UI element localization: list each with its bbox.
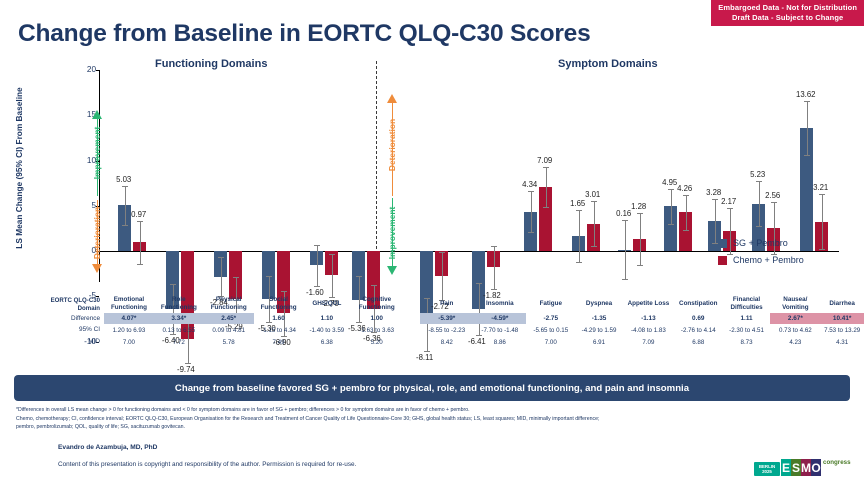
logo-letter-m: M xyxy=(801,459,811,476)
logo-esmo-letters: E S M O xyxy=(781,459,821,476)
arrow-label-deterioration-functioning: Deterioration xyxy=(92,188,102,278)
error-bar-cap xyxy=(771,202,777,203)
table-cell-ci: -2.76 to 4.14 xyxy=(674,324,723,336)
table-cell-ci: -2.30 to 4.51 xyxy=(723,324,771,336)
embargo-line-2: Draft Data - Subject to Change xyxy=(718,13,857,23)
table-cell-ci: 0.09 to 4.81 xyxy=(204,324,254,336)
error-bar xyxy=(671,189,672,224)
error-bar xyxy=(807,101,808,155)
bar-value-label: 5.03 xyxy=(116,175,131,184)
row-label-domain: EORTC QLQ-C30 Domain xyxy=(0,296,104,313)
error-bar-cap xyxy=(819,249,825,250)
error-bar-cap xyxy=(266,276,272,277)
error-bar-cap xyxy=(439,252,445,253)
error-bar-cap xyxy=(819,194,825,195)
error-bar-cap xyxy=(218,257,224,258)
copyright-text: Content of this presentation is copyrigh… xyxy=(58,461,356,468)
error-bar xyxy=(221,257,222,296)
logo-berlin-year: 2025 xyxy=(756,469,778,474)
error-bar-cap xyxy=(576,210,582,211)
arrow-label-deterioration-symptom: Deterioration xyxy=(387,100,397,190)
table-column-header: RoleFunctioning xyxy=(154,296,204,313)
table-cell-ci: -5.65 to 0.15 xyxy=(526,324,575,336)
bar-value-label: -8.11 xyxy=(416,353,433,362)
table-cell-difference: -1.13 xyxy=(623,313,674,324)
legend-label: SG + Pembro xyxy=(733,238,788,248)
table-column-header-line1: Physical xyxy=(204,296,254,304)
bar-value-label: 1.28 xyxy=(631,202,646,211)
bar-value-label: 3.01 xyxy=(585,190,600,199)
logo-letter-s: S xyxy=(791,459,801,476)
table-cell-ci: 0.13 to 6.55 xyxy=(154,324,204,336)
error-bar-cap xyxy=(329,254,335,255)
table-column-header-line1: Diarrhea xyxy=(820,300,864,308)
y-axis-label: LS Mean Change (95% CI) From Baseline xyxy=(14,63,24,273)
error-bar xyxy=(594,201,595,246)
table-column-header-line2: Functioning xyxy=(350,304,403,312)
chart-legend: SG + PembroChemo + Pembro xyxy=(718,238,804,272)
y-axis-tick-mark xyxy=(96,70,99,71)
error-bar-cap xyxy=(712,243,718,244)
table-column-header: Nausea/Vomiting xyxy=(770,296,820,313)
error-bar-cap xyxy=(756,226,762,227)
table-cell-mid: 7.09 xyxy=(623,336,674,348)
bar-value-label: 7.09 xyxy=(537,156,552,165)
table-column-header-line1: Fatigue xyxy=(526,300,575,308)
error-bar-cap xyxy=(591,246,597,247)
bar-value-label: 4.26 xyxy=(677,184,692,193)
table-cell-difference: 1.10 xyxy=(304,313,351,324)
bar-value-label: 0.97 xyxy=(131,210,146,219)
error-bar-cap xyxy=(756,181,762,182)
error-bar-cap xyxy=(683,230,689,231)
legend-swatch xyxy=(718,239,727,248)
table-column-header-line1: GHS/QOL xyxy=(304,300,351,308)
bar-value-label: 2.56 xyxy=(765,191,780,200)
table-cell-difference: 10.41* xyxy=(820,313,864,324)
error-bar-cap xyxy=(683,195,689,196)
error-bar-cap xyxy=(371,285,377,286)
error-bar-cap xyxy=(185,363,191,364)
table-column-header: Insomnia xyxy=(473,296,526,313)
footnote-line: pembro, pembrolizumab; QOL, quality of l… xyxy=(16,423,852,431)
table-panel-gap xyxy=(403,324,420,336)
error-bar xyxy=(531,191,532,232)
table-column-header-line1: Appetite Loss xyxy=(623,300,674,308)
table-cell-difference: -5.39* xyxy=(420,313,473,324)
table-cell-ci: -1.40 to 3.59 xyxy=(304,324,351,336)
row-label-domain-line1: EORTC QLQ-C30 xyxy=(0,297,100,304)
author-name: Evandro de Azambuja, MD, PhD xyxy=(58,444,157,451)
table-cell-mid: 7.49 xyxy=(254,336,304,348)
table-cell-difference: 0.69 xyxy=(674,313,723,324)
table-cell-ci: -1.15 to 4.34 xyxy=(254,324,304,336)
error-bar-cap xyxy=(170,284,176,285)
table-cell-difference: -2.75 xyxy=(526,313,575,324)
table-column-header-line1: Financial xyxy=(723,296,771,304)
section-header-symptom: Symptom Domains xyxy=(558,58,658,70)
error-bar xyxy=(125,186,126,225)
error-bar-cap xyxy=(591,201,597,202)
embargo-banner: Embargoed Data - Not for Distribution Dr… xyxy=(711,0,864,26)
table-row-difference: Difference 4.07*3.34*2.45*1.601.101.00-5… xyxy=(0,313,864,324)
error-bar xyxy=(546,167,547,207)
table-cell-ci: 1.20 to 6.93 xyxy=(104,324,154,336)
table-column-header: Constipation xyxy=(674,296,723,313)
error-bar xyxy=(715,199,716,242)
table-column-header-line1: Role xyxy=(154,296,204,304)
error-bar-cap xyxy=(491,289,497,290)
error-bar xyxy=(332,254,333,297)
footnotes: *Differences in overall LS mean change >… xyxy=(16,406,852,432)
error-bar-cap xyxy=(314,245,320,246)
data-table-wrap: EORTC QLQ-C30 Domain EmotionalFunctionin… xyxy=(0,296,864,348)
table-column-header: Dyspnea xyxy=(575,296,623,313)
table-column-header-line2: Functioning xyxy=(154,304,204,312)
table-cell-ci: 7.53 to 13.29 xyxy=(820,324,864,336)
table-row-domain: EORTC QLQ-C30 Domain EmotionalFunctionin… xyxy=(0,296,864,313)
error-bar-cap xyxy=(668,189,674,190)
table-cell-mid: 7.00 xyxy=(104,336,154,348)
error-bar-cap xyxy=(622,220,628,221)
table-column-header-line2: Functioning xyxy=(254,304,304,312)
error-bar-cap xyxy=(804,155,810,156)
bar-value-label: -9.74 xyxy=(177,365,195,374)
error-bar-cap xyxy=(122,186,128,187)
error-bar-cap xyxy=(804,101,810,102)
table-cell-difference: 1.11 xyxy=(723,313,771,324)
table-column-header-line2: Difficulties xyxy=(723,304,771,312)
error-bar-cap xyxy=(424,351,430,352)
table-cell-mid: 5.78 xyxy=(204,336,254,348)
table-cell-difference: 1.60 xyxy=(254,313,304,324)
error-bar-cap xyxy=(356,276,362,277)
table-column-header-line1: Pain xyxy=(420,300,473,308)
table-column-header-line1: Nausea/ xyxy=(770,296,820,304)
legend-label: Chemo + Pembro xyxy=(733,255,804,265)
table-cell-mid: 6.91 xyxy=(575,336,623,348)
bar-value-label: 0.16 xyxy=(616,209,631,218)
table-column-header-line2: Functioning xyxy=(104,304,154,312)
conclusion-banner: Change from baseline favored SG + pembro… xyxy=(14,375,850,401)
logo-congress-text: congress xyxy=(823,459,851,466)
section-header-functioning: Functioning Domains xyxy=(155,58,267,70)
error-bar-cap xyxy=(637,265,643,266)
table-cell-mid: 6.38 xyxy=(304,336,351,348)
table-cell-difference: 1.00 xyxy=(350,313,403,324)
error-bar-cap xyxy=(528,232,534,233)
embargo-line-1: Embargoed Data - Not for Distribution xyxy=(718,3,857,13)
table-cell-difference: 2.45* xyxy=(204,313,254,324)
error-bar-cap xyxy=(712,199,718,200)
table-cell-ci: -7.70 to -1.48 xyxy=(473,324,526,336)
error-bar-cap xyxy=(476,283,482,284)
table-cell-difference: 4.07* xyxy=(104,313,154,324)
bar-value-label: 2.17 xyxy=(721,197,736,206)
error-bar-cap xyxy=(637,213,643,214)
row-label-ci: 95% CI xyxy=(0,324,104,336)
table-cell-ci: -4.08 to 1.83 xyxy=(623,324,674,336)
legend-swatch xyxy=(718,256,727,265)
table-column-header-line2: Functioning xyxy=(204,304,254,312)
y-axis-tick-label: 20 xyxy=(72,65,96,74)
table-row-ci: 95% CI 1.20 to 6.930.13 to 6.550.09 to 4… xyxy=(0,324,864,336)
table-column-header-line1: Dyspnea xyxy=(575,300,623,308)
bar-value-label: 4.34 xyxy=(522,180,537,189)
table-column-header: PhysicalFunctioning xyxy=(204,296,254,313)
table-cell-difference: 2.67* xyxy=(770,313,820,324)
error-bar xyxy=(625,220,626,279)
error-bar-cap xyxy=(622,279,628,280)
error-bar xyxy=(759,181,760,225)
table-row-mid: MID 7.007.725.787.496.385.208.428.867.00… xyxy=(0,336,864,348)
error-bar xyxy=(494,246,495,289)
table-cell-mid: 8.86 xyxy=(473,336,526,348)
table-panel-gap xyxy=(403,336,420,348)
error-bar xyxy=(140,221,141,264)
table-cell-mid: 8.42 xyxy=(420,336,473,348)
table-column-header-line1: Social xyxy=(254,296,304,304)
error-bar-cap xyxy=(122,225,128,226)
error-bar-cap xyxy=(543,207,549,208)
error-bar-cap xyxy=(727,208,733,209)
table-column-header: EmotionalFunctioning xyxy=(104,296,154,313)
footnote-line: *Differences in overall LS mean change >… xyxy=(16,406,852,414)
error-bar xyxy=(317,245,318,287)
table-cell-ci: 0.73 to 4.62 xyxy=(770,324,820,336)
bar-value-label: 5.23 xyxy=(750,170,765,179)
table-panel-gap xyxy=(403,313,420,324)
table-column-header: GHS/QOL xyxy=(304,296,351,313)
bar-value-label: 3.28 xyxy=(706,188,721,197)
error-bar-cap xyxy=(543,167,549,168)
row-label-mid: MID xyxy=(0,336,104,348)
logo-letter-e: E xyxy=(781,459,791,476)
row-label-difference: Difference xyxy=(0,313,104,324)
error-bar xyxy=(579,210,580,262)
error-bar xyxy=(442,252,443,300)
error-bar-cap xyxy=(137,221,143,222)
error-bar xyxy=(640,213,641,265)
bar-value-label: 13.62 xyxy=(796,90,816,99)
table-cell-mid: 6.88 xyxy=(674,336,723,348)
table-column-header-line2: Vomiting xyxy=(770,304,820,312)
logo-letter-o: O xyxy=(811,459,821,476)
error-bar-cap xyxy=(576,262,582,263)
table-cell-mid: 7.00 xyxy=(526,336,575,348)
logo-berlin-badge: BERLIN 2025 xyxy=(754,462,780,476)
error-bar xyxy=(686,195,687,230)
table-cell-ci: -4.29 to 1.59 xyxy=(575,324,623,336)
legend-item[interactable]: Chemo + Pembro xyxy=(718,255,804,265)
error-bar-cap xyxy=(668,224,674,225)
row-label-domain-line2: Domain xyxy=(0,305,100,312)
table-column-header: FinancialDifficulties xyxy=(723,296,771,313)
table-column-header: Pain xyxy=(420,296,473,313)
table-cell-mid: 4.23 xyxy=(770,336,820,348)
table-column-header-line1: Cognitive xyxy=(350,296,403,304)
bar-value-label: 3.21 xyxy=(813,183,828,192)
table-column-header: Fatigue xyxy=(526,296,575,313)
page-title: Change from Baseline in EORTC QLQ-C30 Sc… xyxy=(18,20,591,48)
table-cell-mid: 8.73 xyxy=(723,336,771,348)
table-panel-gap xyxy=(403,296,420,313)
table-column-header-line1: Emotional xyxy=(104,296,154,304)
table-cell-mid: 5.20 xyxy=(350,336,403,348)
error-bar xyxy=(822,194,823,249)
error-bar-cap xyxy=(528,191,534,192)
data-table: EORTC QLQ-C30 Domain EmotionalFunctionin… xyxy=(0,296,864,348)
bar-value-label: 4.95 xyxy=(662,178,677,187)
table-cell-ci: -8.55 to -2.23 xyxy=(420,324,473,336)
table-column-header-line1: Constipation xyxy=(674,300,723,308)
table-column-header: Diarrhea xyxy=(820,296,864,313)
error-bar-cap xyxy=(233,277,239,278)
footnote-line: Chemo, chemotherapy; CI, confidence inte… xyxy=(16,415,852,423)
arrow-label-improvement-functioning: Improvement xyxy=(92,108,102,198)
error-bar-cap xyxy=(281,291,287,292)
table-column-header: SocialFunctioning xyxy=(254,296,304,313)
esmo-congress-logo: BERLIN 2025 E S M O congress xyxy=(754,459,851,476)
table-column-header: Appetite Loss xyxy=(623,296,674,313)
chart-area: Functioning Domains Symptom Domains LS M… xyxy=(0,58,864,298)
table-cell-difference: 3.34* xyxy=(154,313,204,324)
error-bar-cap xyxy=(491,246,497,247)
legend-item[interactable]: SG + Pembro xyxy=(718,238,804,248)
arrow-label-improvement-symptom: Improvement xyxy=(387,188,397,278)
table-cell-mid: 4.31 xyxy=(820,336,864,348)
table-cell-difference: -1.35 xyxy=(575,313,623,324)
table-column-header: CognitiveFunctioning xyxy=(350,296,403,313)
table-cell-mid: 7.72 xyxy=(154,336,204,348)
error-bar-cap xyxy=(137,264,143,265)
table-column-header-line1: Insomnia xyxy=(473,300,526,308)
bar-value-label: 1.65 xyxy=(570,199,585,208)
error-bar-cap xyxy=(314,286,320,287)
table-cell-difference: -4.59* xyxy=(473,313,526,324)
table-cell-ci: -1.63 to 3.63 xyxy=(350,324,403,336)
